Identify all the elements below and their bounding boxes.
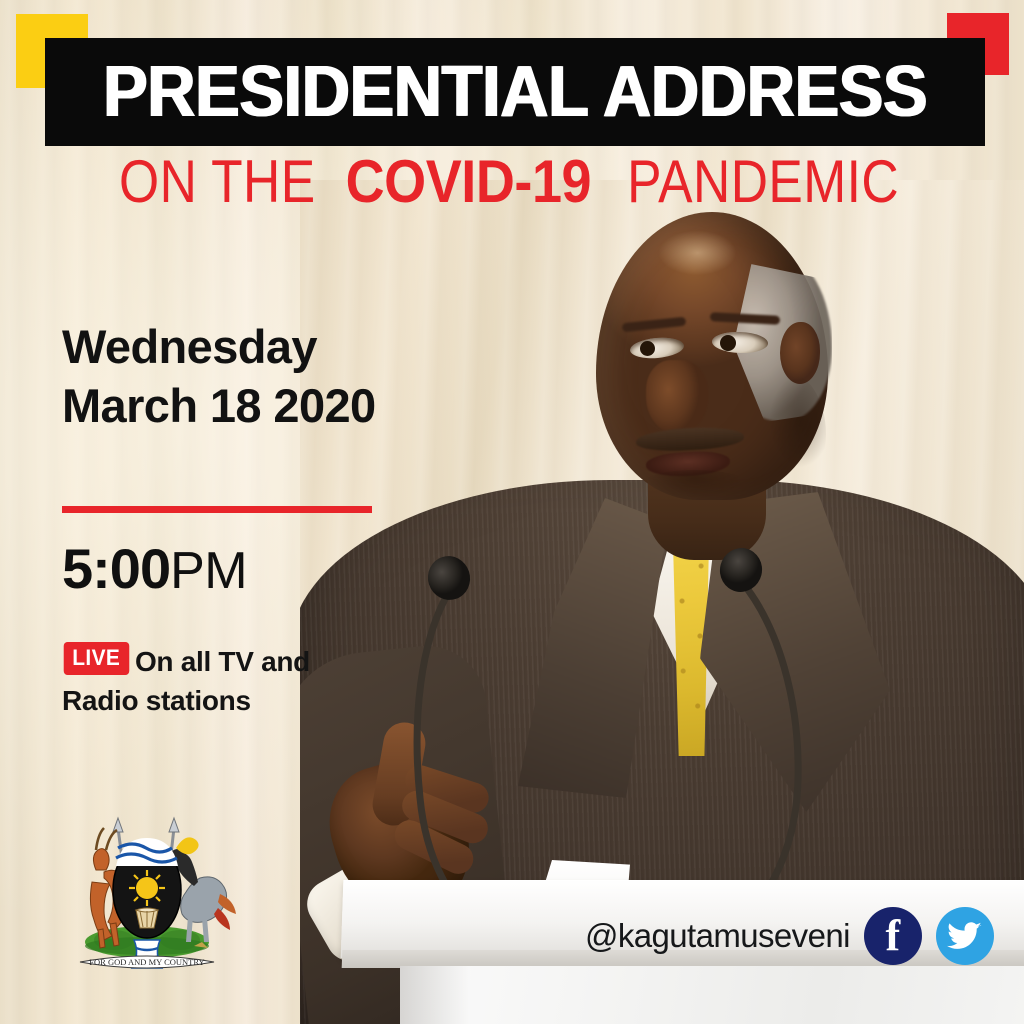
facebook-icon[interactable]: f	[864, 907, 922, 965]
event-details: Wednesday March 18 2020	[62, 318, 482, 436]
broadcast-line-2: Radio stations	[62, 683, 362, 718]
event-date: March 18 2020	[62, 377, 482, 436]
event-time-value: 5:00	[62, 537, 170, 600]
twitter-bird-glyph	[936, 907, 994, 965]
subtitle-suffix: PANDEMIC	[627, 152, 899, 212]
president-photograph	[300, 180, 1024, 1024]
chin-shadow	[630, 470, 760, 514]
forehead-highlight	[652, 228, 760, 290]
subtitle-prefix: ON THE	[119, 152, 316, 212]
event-day: Wednesday	[62, 318, 482, 377]
event-time: 5:00PM	[62, 541, 247, 597]
subtitle-emphasis: COVID-19	[345, 152, 590, 212]
red-divider-rule	[62, 506, 372, 513]
broadcast-line-1: On all TV and	[135, 646, 310, 677]
pupil-left	[640, 341, 655, 356]
title-banner: PRESIDENTIAL ADDRESS	[45, 38, 985, 146]
subtitle: ON THE COVID-19 PANDEMIC	[0, 152, 1024, 212]
podium-front-panel	[400, 966, 1024, 1024]
presidential-address-poster: PRESIDENTIAL ADDRESS ON THE COVID-19 PAN…	[0, 0, 1024, 1024]
facebook-glyph: f	[864, 914, 922, 958]
pupil-right	[720, 335, 736, 351]
social-media-row: @kagutamuseveni f	[585, 905, 994, 967]
nose	[646, 360, 708, 434]
podium-shadow	[400, 966, 470, 1024]
broadcast-info: LIVE On all TV and Radio stations	[62, 644, 362, 718]
live-badge: LIVE	[64, 642, 129, 675]
cheek-shadow	[740, 370, 826, 498]
uganda-coat-of-arms-icon: FOR GOD AND MY COUNTRY	[52, 812, 242, 982]
event-time-meridiem: PM	[170, 542, 247, 600]
social-handle: @kagutamuseveni	[585, 917, 850, 955]
coat-of-arms-motto: FOR GOD AND MY COUNTRY	[89, 957, 204, 967]
page-title: PRESIDENTIAL ADDRESS	[103, 56, 927, 128]
twitter-icon[interactable]	[936, 907, 994, 965]
